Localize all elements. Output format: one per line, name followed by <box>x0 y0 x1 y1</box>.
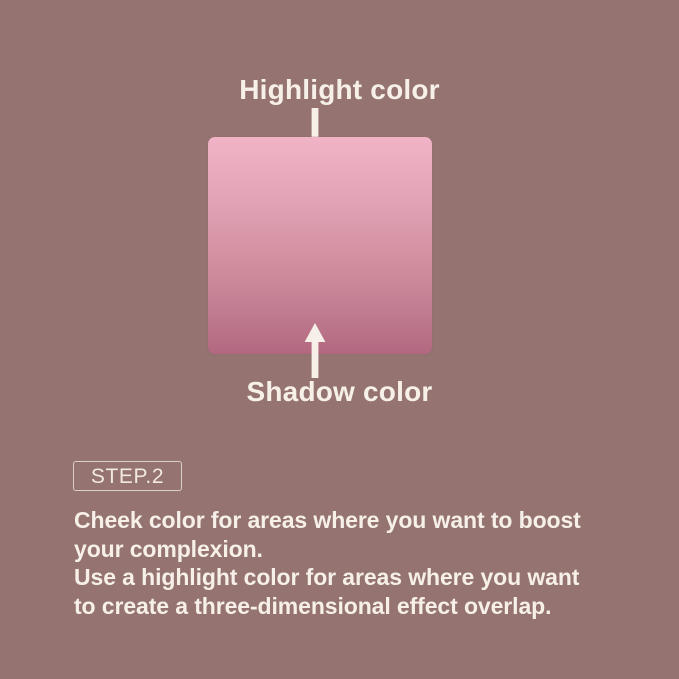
step-description: Cheek color for areas where you want to … <box>74 506 619 620</box>
product-instruction-card: Highlight color Shadow color STEP.2 Chee… <box>0 0 679 679</box>
step-paragraph-1: Cheek color for areas where you want to … <box>74 506 619 563</box>
highlight-color-label: Highlight color <box>0 73 679 107</box>
step-badge-label: STEP.2 <box>91 466 164 487</box>
step-paragraph-2-line-1: Use a highlight color for areas where yo… <box>74 563 619 592</box>
step-paragraph-2-line-2: to create a three-dimensional effect ove… <box>74 592 619 621</box>
step-paragraph-1-line-1: Cheek color for areas where you want to … <box>74 506 619 535</box>
step-paragraph-1-line-2: your complexion. <box>74 535 619 564</box>
gradient-color-swatch <box>208 137 432 354</box>
shadow-color-label: Shadow color <box>0 375 679 409</box>
step-paragraph-2: Use a highlight color for areas where yo… <box>74 563 619 620</box>
step-badge: STEP.2 <box>73 461 182 491</box>
